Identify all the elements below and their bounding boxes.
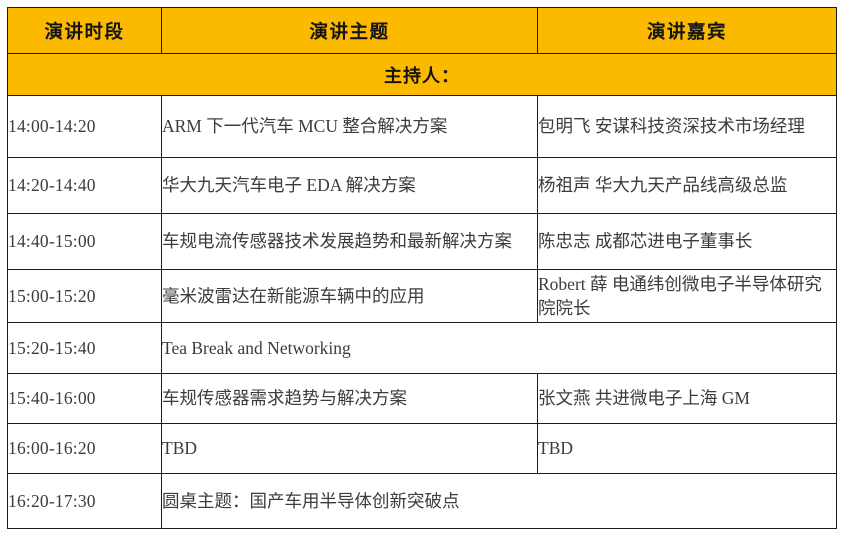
cell-time: 16:00-16:20 bbox=[8, 424, 162, 474]
cell-topic: Tea Break and Networking bbox=[162, 323, 837, 374]
cell-time: 14:40-15:00 bbox=[8, 214, 162, 270]
table-row-merged: 15:20-15:40 Tea Break and Networking bbox=[8, 323, 837, 374]
conference-agenda-table: 演讲时段 演讲主题 演讲嘉宾 主持人： 14:00-14:20 ARM 下一代汽… bbox=[7, 7, 837, 529]
table-row: 15:40-16:00 车规传感器需求趋势与解决方案 张文燕 共进微电子上海 G… bbox=[8, 374, 837, 424]
column-header-topic: 演讲主题 bbox=[162, 8, 538, 54]
table-row-merged: 16:20-17:30 圆桌主题：国产车用半导体创新突破点 bbox=[8, 474, 837, 529]
cell-guest: 张文燕 共进微电子上海 GM bbox=[538, 374, 837, 424]
cell-topic: 车规电流传感器技术发展趋势和最新解决方案 bbox=[162, 214, 538, 270]
cell-topic: ARM 下一代汽车 MCU 整合解决方案 bbox=[162, 96, 538, 158]
cell-time: 16:20-17:30 bbox=[8, 474, 162, 529]
cell-topic: 车规传感器需求趋势与解决方案 bbox=[162, 374, 538, 424]
cell-guest: 陈忠志 成都芯进电子董事长 bbox=[538, 214, 837, 270]
cell-time: 15:00-15:20 bbox=[8, 270, 162, 323]
cell-guest: TBD bbox=[538, 424, 837, 474]
cell-guest: 包明飞 安谋科技资深技术市场经理 bbox=[538, 96, 837, 158]
cell-topic: 圆桌主题：国产车用半导体创新突破点 bbox=[162, 474, 837, 529]
table-row: 14:20-14:40 华大九天汽车电子 EDA 解决方案 杨祖声 华大九天产品… bbox=[8, 158, 837, 214]
agenda-table-container: 演讲时段 演讲主题 演讲嘉宾 主持人： 14:00-14:20 ARM 下一代汽… bbox=[7, 7, 836, 533]
column-header-guest: 演讲嘉宾 bbox=[538, 8, 837, 54]
cell-time: 14:00-14:20 bbox=[8, 96, 162, 158]
table-row: 15:00-15:20 毫米波雷达在新能源车辆中的应用 Robert 薛 电通纬… bbox=[8, 270, 837, 323]
cell-guest: Robert 薛 电通纬创微电子半导体研究院院长 bbox=[538, 270, 837, 323]
table-row: 14:40-15:00 车规电流传感器技术发展趋势和最新解决方案 陈忠志 成都芯… bbox=[8, 214, 837, 270]
cell-time: 14:20-14:40 bbox=[8, 158, 162, 214]
cell-topic: 毫米波雷达在新能源车辆中的应用 bbox=[162, 270, 538, 323]
cell-time: 15:40-16:00 bbox=[8, 374, 162, 424]
table-header-row: 演讲时段 演讲主题 演讲嘉宾 bbox=[8, 8, 837, 54]
column-header-time: 演讲时段 bbox=[8, 8, 162, 54]
section-header-row-host: 主持人： bbox=[8, 54, 837, 96]
cell-topic: TBD bbox=[162, 424, 538, 474]
cell-guest: 杨祖声 华大九天产品线高级总监 bbox=[538, 158, 837, 214]
cell-topic: 华大九天汽车电子 EDA 解决方案 bbox=[162, 158, 538, 214]
table-row: 14:00-14:20 ARM 下一代汽车 MCU 整合解决方案 包明飞 安谋科… bbox=[8, 96, 837, 158]
section-label-host: 主持人： bbox=[8, 54, 837, 96]
cell-time: 15:20-15:40 bbox=[8, 323, 162, 374]
table-row: 16:00-16:20 TBD TBD bbox=[8, 424, 837, 474]
